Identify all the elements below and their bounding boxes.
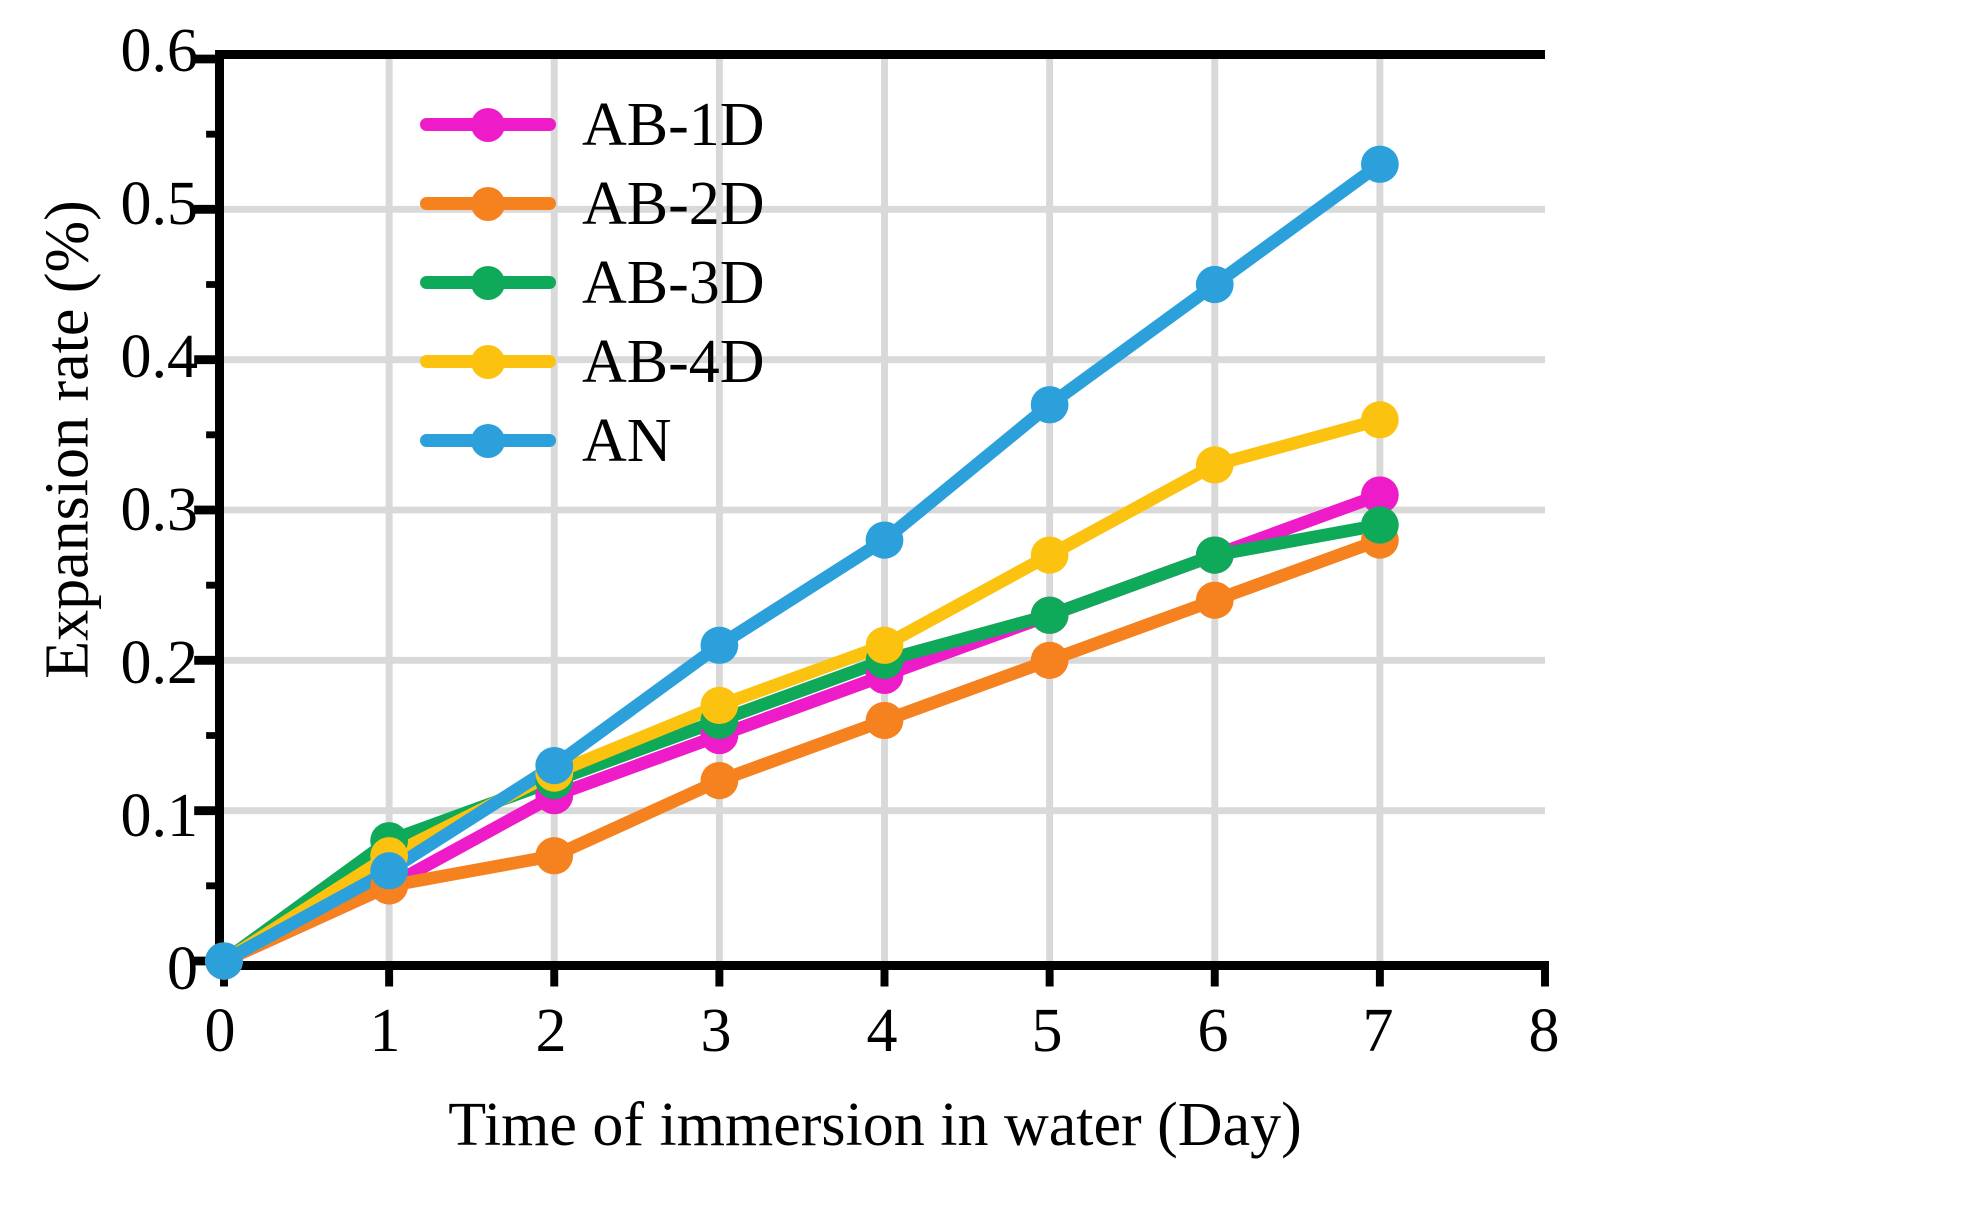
data-point-marker <box>1196 582 1234 619</box>
x-tick-label: 0 <box>160 1000 280 1062</box>
legend-item-ab-4d[interactable]: AB-4D <box>420 322 840 401</box>
y-tick-label: 0.5 <box>68 173 198 235</box>
data-point-marker <box>1031 597 1069 634</box>
x-tick-label: 8 <box>1484 1000 1604 1062</box>
data-point-marker <box>1361 506 1399 543</box>
data-point-marker <box>1196 266 1234 303</box>
x-tick-label: 5 <box>987 1000 1107 1062</box>
data-point-marker <box>701 762 739 799</box>
plot-area <box>215 50 1545 970</box>
data-point-marker <box>535 747 573 784</box>
y-tick-label: 0.2 <box>68 632 198 694</box>
legend-label: AB-2D <box>556 173 765 235</box>
legend-label: AN <box>556 410 672 472</box>
data-point-marker <box>1361 146 1399 183</box>
legend-item-ab-1d[interactable]: AB-1D <box>420 85 840 164</box>
legend-label: AB-4D <box>556 331 765 393</box>
x-tick-label: 1 <box>325 1000 445 1062</box>
data-point-marker <box>205 942 243 979</box>
x-tick-label: 3 <box>656 1000 776 1062</box>
data-point-marker <box>1196 446 1234 483</box>
data-point-marker <box>1196 536 1234 573</box>
legend-swatch-icon <box>420 263 556 303</box>
y-tick-label: 0.6 <box>68 20 198 82</box>
data-point-marker <box>535 837 573 874</box>
chart-figure: Expansion rate (%) Time of immersion in … <box>0 0 1970 1206</box>
x-tick-label: 6 <box>1153 1000 1273 1062</box>
legend-swatch-icon <box>420 421 556 461</box>
data-point-marker <box>1031 642 1069 679</box>
data-point-marker <box>701 687 739 724</box>
y-tick-label: 0.4 <box>68 326 198 388</box>
data-point-marker <box>866 702 904 739</box>
legend-label: AB-1D <box>556 94 765 156</box>
legend-item-an[interactable]: AN <box>420 401 840 480</box>
legend-marker-dot-icon <box>471 187 505 221</box>
y-tick-label: 0 <box>68 938 198 1000</box>
y-tick-label: 0.3 <box>68 479 198 541</box>
x-tick-label: 7 <box>1318 1000 1438 1062</box>
legend-swatch-icon <box>420 342 556 382</box>
legend-label: AB-3D <box>556 252 765 314</box>
x-axis-label: Time of immersion in water (Day) <box>210 1090 1540 1161</box>
data-point-marker <box>866 521 904 558</box>
y-tick-label: 0.1 <box>68 785 198 847</box>
legend-swatch-icon <box>420 105 556 145</box>
legend-marker-dot-icon <box>471 424 505 458</box>
legend-marker-dot-icon <box>471 345 505 379</box>
legend-item-ab-3d[interactable]: AB-3D <box>420 243 840 322</box>
legend-item-ab-2d[interactable]: AB-2D <box>420 164 840 243</box>
data-point-marker <box>866 627 904 664</box>
data-point-marker <box>1361 401 1399 438</box>
legend-marker-dot-icon <box>471 108 505 142</box>
legend: AB-1D AB-2D AB-3D AB-4D <box>420 85 840 480</box>
legend-marker-dot-icon <box>471 266 505 300</box>
data-point-marker <box>1031 386 1069 423</box>
data-point-marker <box>701 627 739 664</box>
x-tick-label: 4 <box>822 1000 942 1062</box>
legend-swatch-icon <box>420 184 556 224</box>
data-point-marker <box>1031 536 1069 573</box>
x-tick-label: 2 <box>491 1000 611 1062</box>
data-point-marker <box>370 852 408 889</box>
